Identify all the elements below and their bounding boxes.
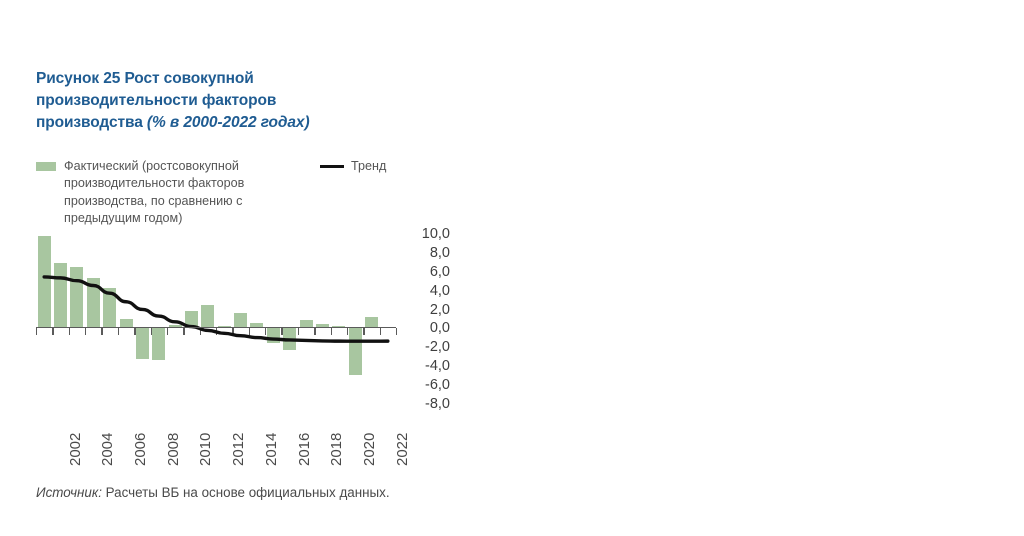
- figure-25-y-tick-label: -6,0: [398, 376, 450, 395]
- figure-25-zero-axis: [36, 327, 396, 329]
- figure-25-x-tick-label: 2006: [132, 433, 149, 466]
- figure-25-panel: Рисунок 25 Рост совокупной производитель…: [0, 0, 512, 536]
- figure-25-trend-line: [36, 232, 396, 404]
- figure-25-source: Источник: Расчеты ВБ на основе официальн…: [36, 485, 390, 500]
- legend-swatch-trend-icon: [320, 165, 344, 168]
- legend-entry-trend: Тренд: [320, 158, 386, 175]
- figure-25-x-tick-label: 2014: [263, 433, 280, 466]
- figures-page: Рисунок 25 Рост совокупной производитель…: [0, 0, 1024, 536]
- figure-25-x-tick-label: 2002: [67, 433, 84, 466]
- figure-25-trend-path: [44, 277, 388, 341]
- figure-25-title: Рисунок 25 Рост совокупной производитель…: [36, 68, 366, 134]
- figure-25-x-tick-label: 2016: [296, 433, 313, 466]
- figure-25-y-tick-label: 2,0: [398, 301, 450, 320]
- legend-label-actual: Фактический (ростсовокупной производител…: [64, 158, 316, 227]
- figure-25-y-tick-label: 8,0: [398, 244, 450, 263]
- figure-25-y-tick-label: 10,0: [398, 225, 450, 244]
- figure-25-x-tick-label: 2018: [328, 433, 345, 466]
- figure-25-y-tick-label: 6,0: [398, 263, 450, 282]
- figure-26-panel: Рисунок 26 Средний рост совокупной произ…: [512, 0, 1024, 536]
- figure-25-y-tick-label: 4,0: [398, 282, 450, 301]
- figure-25-x-tick-label: 2012: [230, 433, 247, 466]
- figure-25-x-tick-label: 2008: [165, 433, 182, 466]
- figure-25-y-tick-label: -2,0: [398, 338, 450, 357]
- figure-25-source-text: Расчеты ВБ на основе официальных данных.: [102, 485, 390, 500]
- figure-25-x-tick-label: 2010: [197, 433, 214, 466]
- figure-25-y-tick-label: -4,0: [398, 357, 450, 376]
- figure-25-x-axis-labels: 2002200420062008201020122014201620182020…: [36, 404, 408, 484]
- legend-swatch-actual-icon: [36, 162, 56, 171]
- figure-25-x-tick-label: 2022: [394, 433, 411, 466]
- figure-25-x-tick-label: 2020: [361, 433, 378, 466]
- figure-25-legend: Фактический (ростсовокупной производител…: [36, 158, 436, 227]
- figure-25-y-tick-label: 0,0: [398, 319, 450, 338]
- figure-25-plot: [36, 232, 396, 404]
- figure-25-x-tick-label: 2004: [99, 433, 116, 466]
- figure-25-source-label: Источник:: [36, 485, 102, 500]
- figure-25-title-subtitle: (% в 2000-2022 годах): [143, 114, 310, 131]
- legend-label-trend: Тренд: [351, 158, 386, 175]
- figure-25-y-axis-labels: 10,08,06,04,02,00,0-2,0-4,0-6,0-8,0: [398, 225, 450, 414]
